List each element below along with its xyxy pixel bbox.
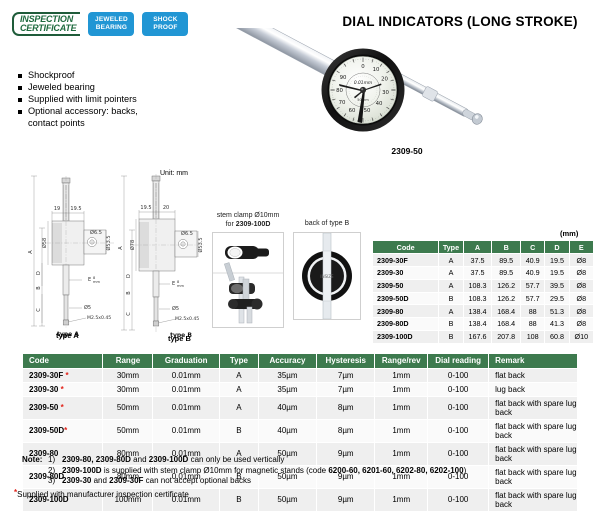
spec-col-range: Range (103, 354, 153, 369)
dim-col-type: Type (439, 241, 463, 254)
note-text: 2309-100D is supplied with stem clamp Ø1… (62, 466, 466, 477)
dim-cell-c: 88 (521, 318, 545, 331)
feature-list: Shockproof Jeweled bearing Supplied with… (18, 70, 138, 130)
spec-cell-remark: flat back with spare lug back (489, 465, 578, 488)
svg-text:50: 50 (364, 108, 371, 114)
spec-cell-remark: flat back with spare lug back (489, 488, 578, 511)
dim-col-b: B (492, 241, 521, 254)
dim-cell-code: 2309-50D (373, 292, 439, 305)
spec-cell-remark: flat back with spare lug back (489, 396, 578, 419)
dim-col-a: A (463, 241, 492, 254)
note-bold-code-b: 2309-30F (109, 476, 143, 485)
spec-cell-accuracy: 40µm (258, 396, 316, 419)
dim-cell-c: 57.7 (521, 292, 545, 305)
dim-cell-d: 19.5 (545, 266, 569, 279)
svg-text:30: 30 (382, 90, 389, 96)
dimensions-table: Code Type A B C D E 2309-30F A 37.5 89.5… (372, 240, 594, 344)
svg-text:M2.5x0.45: M2.5x0.45 (175, 316, 199, 322)
dim-cell-a: 37.5 (463, 266, 492, 279)
dim-cell-e: Ø8 (569, 254, 593, 267)
spec-cell-hysteresis: 7µm (317, 382, 375, 396)
table-row: 2309-30F A 37.5 89.5 40.9 19.5 Ø8 (373, 254, 594, 267)
dim-cell-b: 126.2 (492, 292, 521, 305)
svg-text:90: 90 (340, 75, 347, 81)
dim-cell-b: 168.4 (492, 318, 521, 331)
dimensions-unit-label: (mm) (560, 229, 578, 238)
spec-cell-accuracy: 50µm (258, 488, 316, 511)
note-mid-text: and (131, 455, 149, 464)
note-bold-code-b: 6200-60, 6201-60, 6202-80, 6202-100 (328, 466, 463, 475)
svg-text:B: B (126, 291, 132, 295)
page-title: DIAL INDICATORS (LONG STROKE) (330, 14, 590, 29)
note-text: 2309-30 and 2309-30F can not accept opti… (62, 476, 251, 487)
spec-cell-range: 50mm (103, 419, 153, 442)
svg-text:10: 10 (373, 67, 380, 73)
dimensions-table-header-row: Code Type A B C D E (373, 241, 594, 254)
spec-cell-remark: flat back (489, 368, 578, 382)
dim-cell-b: 89.5 (492, 254, 521, 267)
inset-back-type-b: back of type B INSIZE (293, 220, 361, 320)
spec-code-text: 2309-50D (29, 426, 64, 435)
svg-text:C: C (126, 312, 132, 316)
spec-cell-hysteresis: 9µm (317, 488, 375, 511)
dim-cell-type: B (439, 330, 463, 343)
dim-cell-b: 207.8 (492, 330, 521, 343)
spec-cell-type: A (220, 396, 259, 419)
spec-col-dial-reading: Dial reading (428, 354, 489, 369)
technical-drawings: A B D C (6, 168, 211, 340)
dim-cell-d: 29.5 (545, 292, 569, 305)
svg-text:80: 80 (336, 88, 343, 94)
product-photo: 0 10 20 30 40 50 60 70 80 90 0.01mm 50mm (225, 28, 585, 143)
svg-text:70: 70 (339, 100, 346, 106)
spec-cell-accuracy: 35µm (258, 368, 316, 382)
dim-cell-c: 40.9 (521, 266, 545, 279)
svg-text:D: D (126, 274, 132, 278)
table-row: 2309-50 * 50mm 0.01mm A 40µm 8µm 1mm 0-1… (23, 396, 578, 419)
badge-jeweled-bearing: JEWELED BEARING (88, 12, 134, 36)
dim-cell-d: 41.3 (545, 318, 569, 331)
svg-text:D: D (36, 271, 42, 275)
note-bold-code-b: 2309-100D (149, 455, 189, 464)
footnote-asterisk: * (14, 488, 17, 497)
spec-code-text: 2309-50 (29, 403, 58, 412)
dim-col-code: Code (373, 241, 439, 254)
inset-stem-clamp-caption: stem clamp Ø10mm for 2309-100D (212, 212, 284, 229)
dim-cell-code: 2309-80D (373, 318, 439, 331)
svg-text:M2.5x0.45: M2.5x0.45 (87, 315, 111, 321)
spec-col-remark: Remark (489, 354, 578, 369)
dim-cell-c: 108 (521, 330, 545, 343)
dim-cell-type: B (439, 292, 463, 305)
svg-text:E: E (88, 277, 91, 283)
note-number: 3) (48, 476, 62, 487)
dim-cell-code: 2309-100D (373, 330, 439, 343)
spec-col-hysteresis: Hysteresis (317, 354, 375, 369)
svg-text:Ø6.5: Ø6.5 (90, 229, 102, 236)
spec-cell-range: 50mm (103, 396, 153, 419)
svg-text:INSIZE: INSIZE (320, 274, 334, 279)
feature-item-continuation: contact points (18, 118, 138, 130)
spec-cell-hysteresis: 8µm (317, 396, 375, 419)
drawing-caption-type-a: type A (56, 331, 79, 340)
inset-back-type-b-caption: back of type B (293, 220, 361, 229)
note-bold-code-a: 2309-100D (62, 466, 102, 475)
spec-col-type: Type (220, 354, 259, 369)
note-item: 2) 2309-100D is supplied with stem clamp… (48, 466, 466, 477)
table-row: 2309-80D B 138.4 168.4 88 41.3 Ø8 (373, 318, 594, 331)
badge-shock-proof: SHOCK PROOF (142, 12, 188, 36)
svg-text:E: E (172, 281, 175, 287)
spec-cell-graduation: 0.01mm (153, 396, 220, 419)
svg-text:60: 60 (349, 108, 356, 114)
badge-shock-proof-line2: PROOF (147, 24, 183, 32)
spec-cell-type: B (220, 419, 259, 442)
note-bold-code-a: 2309-80, 2309-80D (62, 455, 131, 464)
dim-cell-b: 126.2 (492, 279, 521, 292)
spec-col-graduation: Graduation (153, 354, 220, 369)
dim-cell-d: 60.8 (545, 330, 569, 343)
table-row: 2309-50 A 108.3 126.2 57.7 39.5 Ø8 (373, 279, 594, 292)
spec-cell-dial-reading: 0-100 (428, 488, 489, 511)
spec-cell-graduation: 0.01mm (153, 419, 220, 442)
svg-text:A: A (118, 246, 124, 250)
svg-text:Ø5: Ø5 (172, 305, 179, 312)
note-number: 1) (48, 455, 62, 466)
feature-item-continuation-text: contact points (28, 118, 85, 128)
spec-code-text: 2309-30F (29, 371, 63, 380)
drawing-caption-type-b: type B (168, 334, 191, 343)
dim-cell-c: 57.7 (521, 279, 545, 292)
spec-cell-code: 2309-30 * (23, 382, 103, 396)
notes-label: Note: (22, 455, 48, 466)
table-row: 2309-30F * 30mm 0.01mm A 35µm 7µm 1mm 0-… (23, 368, 578, 382)
spec-cell-graduation: 0.01mm (153, 382, 220, 396)
specification-table: Code Range Graduation Type Accuracy Hyst… (22, 353, 578, 512)
note-tail-text: ) (464, 466, 467, 475)
table-row: 2309-50D* 50mm 0.01mm B 40µm 8µm 1mm 0-1… (23, 419, 578, 442)
spec-cell-code: 2309-30F * (23, 368, 103, 382)
spec-cell-code: 2309-50 * (23, 396, 103, 419)
inset-stem-clamp-caption-prefix: for (226, 221, 236, 228)
header-badges: INSPECTION CERTIFICATE JEWELED BEARING S… (12, 12, 188, 36)
catalog-page: INSPECTION CERTIFICATE JEWELED BEARING S… (0, 0, 600, 510)
product-photo-label: 2309-50 (352, 146, 462, 156)
svg-text:20: 20 (163, 205, 169, 211)
inset-stem-clamp-caption-line1: stem clamp Ø10mm (217, 212, 280, 219)
badge-jeweled-bearing-line2: BEARING (93, 24, 129, 32)
svg-text:A: A (28, 250, 34, 254)
spec-cell-range-rev: 1mm (375, 488, 428, 511)
certificate-logo-line2: CERTIFICATE (20, 24, 76, 33)
dim-cell-e: Ø8 (569, 318, 593, 331)
note-tail-text: can only be used vertically (188, 455, 284, 464)
svg-text:19.5: 19.5 (140, 205, 151, 211)
spec-cell-dial-reading: 0-100 (428, 396, 489, 419)
inspection-asterisk: * (63, 371, 68, 380)
dim-cell-a: 138.4 (463, 318, 492, 331)
spec-cell-remark: flat back with spare lug back (489, 442, 578, 465)
svg-text:20: 20 (381, 77, 388, 83)
spec-cell-hysteresis: 7µm (317, 368, 375, 382)
dim-cell-a: 108.3 (463, 279, 492, 292)
spec-col-accuracy: Accuracy (258, 354, 316, 369)
svg-text:40: 40 (376, 101, 383, 107)
inspection-certificate-logo: INSPECTION CERTIFICATE (12, 12, 80, 36)
table-row: 2309-50D B 108.3 126.2 57.7 29.5 Ø8 (373, 292, 594, 305)
dim-col-e: E (569, 241, 593, 254)
dim-cell-code: 2309-30F (373, 254, 439, 267)
dim-cell-b: 89.5 (492, 266, 521, 279)
spec-table-header-row: Code Range Graduation Type Accuracy Hyst… (23, 354, 578, 369)
dim-cell-c: 40.9 (521, 254, 545, 267)
spec-cell-range: 30mm (103, 368, 153, 382)
svg-text:0: 0 (361, 64, 365, 70)
note-text: 2309-80, 2309-80D and 2309-100D can only… (62, 455, 284, 466)
dim-cell-e: Ø8 (569, 266, 593, 279)
spec-cell-remark: lug back (489, 382, 578, 396)
badge-jeweled-bearing-line1: JEWELED (93, 16, 129, 24)
spec-cell-range-rev: 1mm (375, 396, 428, 419)
dim-cell-a: 167.6 (463, 330, 492, 343)
spec-cell-type: A (220, 382, 259, 396)
spec-col-code: Code (23, 354, 103, 369)
table-row: 2309-30 * 30mm 0.01mm A 35µm 7µm 1mm 0-1… (23, 382, 578, 396)
svg-text:19.5: 19.5 (70, 206, 81, 212)
dim-cell-d: 51.3 (545, 305, 569, 318)
badge-shock-proof-line1: SHOCK (147, 16, 183, 24)
svg-text:C: C (36, 308, 42, 312)
spec-cell-accuracy: 40µm (258, 419, 316, 442)
feature-item: Optional accessory: backs, (18, 106, 138, 118)
dim-cell-code: 2309-50 (373, 279, 439, 292)
note-mid-text: is supplied with stem clamp Ø10mm for ma… (102, 466, 329, 475)
table-row: 2309-30 A 37.5 89.5 40.9 19.5 Ø8 (373, 266, 594, 279)
svg-text:Ø58: Ø58 (41, 238, 48, 248)
dim-cell-a: 108.3 (463, 292, 492, 305)
spec-cell-graduation: 0.01mm (153, 368, 220, 382)
spec-cell-range-rev: 1mm (375, 419, 428, 442)
svg-text:Ø6.5: Ø6.5 (181, 230, 193, 237)
inset-stem-clamp-caption-code: 2309-100D (236, 221, 271, 228)
note-number: 2) (48, 466, 62, 477)
dim-cell-e: Ø10 (569, 330, 593, 343)
footnote-text: Supplied with manufacturer inspection ce… (17, 490, 189, 499)
dim-cell-type: A (439, 254, 463, 267)
feature-item: Shockproof (18, 70, 138, 82)
spec-cell-dial-reading: 0-100 (428, 382, 489, 396)
svg-text:Ø5: Ø5 (84, 304, 91, 311)
inspection-asterisk: * (58, 385, 63, 394)
feature-item: Jeweled bearing (18, 82, 138, 94)
note-tail-text: can not accept optional backs (143, 476, 251, 485)
dim-cell-d: 39.5 (545, 279, 569, 292)
dim-cell-type: B (439, 318, 463, 331)
spec-cell-dial-reading: 0-100 (428, 419, 489, 442)
spec-cell-accuracy: 35µm (258, 382, 316, 396)
spec-cell-remark: flat back with spare lug back (489, 419, 578, 442)
dim-cell-code: 2309-30 (373, 266, 439, 279)
note-item: Note: 1) 2309-80, 2309-80D and 2309-100D… (22, 455, 466, 466)
inspection-asterisk: * (64, 426, 67, 435)
spec-cell-dial-reading: 0-100 (428, 368, 489, 382)
svg-text:mm: mm (93, 280, 101, 284)
dim-cell-type: A (439, 305, 463, 318)
svg-text:B: B (36, 286, 42, 290)
notes-block: Note: 1) 2309-80, 2309-80D and 2309-100D… (22, 455, 466, 487)
dim-cell-a: 138.4 (463, 305, 492, 318)
spec-cell-range-rev: 1mm (375, 368, 428, 382)
spec-cell-range: 30mm (103, 382, 153, 396)
note-mid-text: and (91, 476, 109, 485)
inspection-asterisk: * (58, 403, 63, 412)
spec-code-text: 2309-30 (29, 385, 58, 394)
note-bold-code-a: 2309-30 (62, 476, 91, 485)
spec-cell-code: 2309-50D* (23, 419, 103, 442)
dim-cell-a: 37.5 (463, 254, 492, 267)
dim-cell-d: 19.5 (545, 254, 569, 267)
spec-cell-type: B (220, 488, 259, 511)
spec-cell-hysteresis: 8µm (317, 419, 375, 442)
dim-cell-type: A (439, 266, 463, 279)
dim-cell-e: Ø8 (569, 292, 593, 305)
svg-text:0.01mm: 0.01mm (354, 80, 372, 86)
dim-col-d: D (545, 241, 569, 254)
dim-cell-type: A (439, 279, 463, 292)
dim-cell-code: 2309-80 (373, 305, 439, 318)
inset-stem-clamp: stem clamp Ø10mm for 2309-100D (212, 212, 284, 328)
spec-cell-range-rev: 1mm (375, 382, 428, 396)
table-row: 2309-100D B 167.6 207.8 108 60.8 Ø10 (373, 330, 594, 343)
spec-col-range-rev: Range/rev (375, 354, 428, 369)
note-item: 3) 2309-30 and 2309-30F can not accept o… (48, 476, 466, 487)
feature-item: Supplied with limit pointers (18, 94, 138, 106)
dim-cell-e: Ø8 (569, 305, 593, 318)
footnote: *Supplied with manufacturer inspection c… (14, 490, 189, 499)
svg-text:19: 19 (54, 206, 60, 212)
svg-text:mm: mm (177, 284, 185, 288)
dim-col-c: C (521, 241, 545, 254)
dim-cell-e: Ø8 (569, 279, 593, 292)
svg-text:Ø78: Ø78 (129, 240, 136, 250)
spec-cell-type: A (220, 368, 259, 382)
table-row: 2309-80 A 138.4 168.4 88 51.3 Ø8 (373, 305, 594, 318)
dim-cell-c: 88 (521, 305, 545, 318)
dim-cell-b: 168.4 (492, 305, 521, 318)
